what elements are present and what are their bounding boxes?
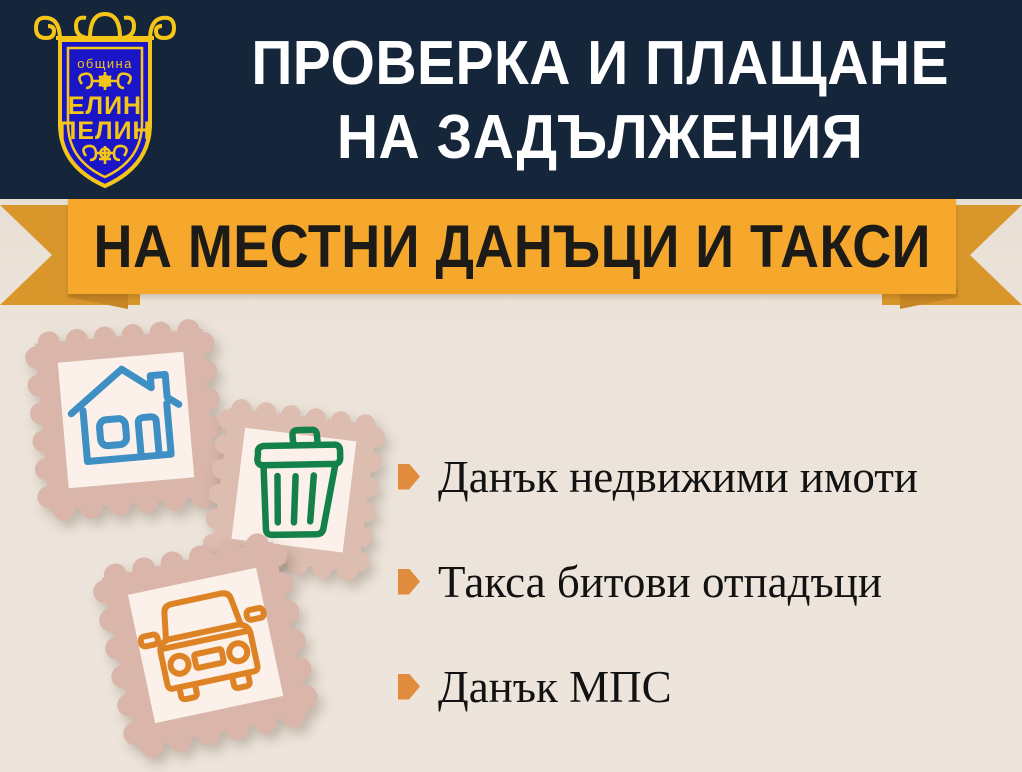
ribbon-face: НА МЕСТНИ ДАНЪЦИ И ТАКСИ <box>68 199 956 294</box>
arrow-bullet-icon <box>398 569 420 595</box>
stamp-card-car <box>88 528 323 763</box>
tax-type-list: Данък недвижими имоти Такса битови отпад… <box>398 424 1013 739</box>
list-item-label: Такса битови отпадъци <box>438 557 882 607</box>
ribbon-label: НА МЕСТНИ ДАНЪЦИ И ТАКСИ <box>93 216 930 278</box>
list-item-label: Данък МПС <box>438 662 672 712</box>
list-item[interactable]: Такса битови отпадъци <box>398 529 1013 634</box>
list-item-label: Данък недвижими имоти <box>438 452 918 502</box>
title-line-2: НА ЗАДЪЛЖЕНИЯ <box>337 101 863 175</box>
municipality-logo: община ЕЛИН ПЕЛИН <box>30 6 180 194</box>
page-title: ПРОВЕРКА И ПЛАЩАНЕ НА ЗАДЪЛЖЕНИЯ <box>185 16 1015 186</box>
logo-text-obshtina: община <box>77 56 132 71</box>
title-line-1: ПРОВЕРКА И ПЛАЩАНЕ <box>251 27 949 101</box>
logo-text-pelin: ПЕЛИН <box>58 117 151 145</box>
subtitle-ribbon: НА МЕСТНИ ДАНЪЦИ И ТАКСИ <box>0 199 1022 311</box>
logo-text-elin: ЕЛИН <box>68 92 142 120</box>
arrow-bullet-icon <box>398 464 420 490</box>
arrow-bullet-icon <box>398 674 420 700</box>
poster-canvas: община ЕЛИН ПЕЛИН <box>0 0 1022 772</box>
list-item[interactable]: Данък недвижими имоти <box>398 424 1013 529</box>
list-item[interactable]: Данък МПС <box>398 634 1013 739</box>
